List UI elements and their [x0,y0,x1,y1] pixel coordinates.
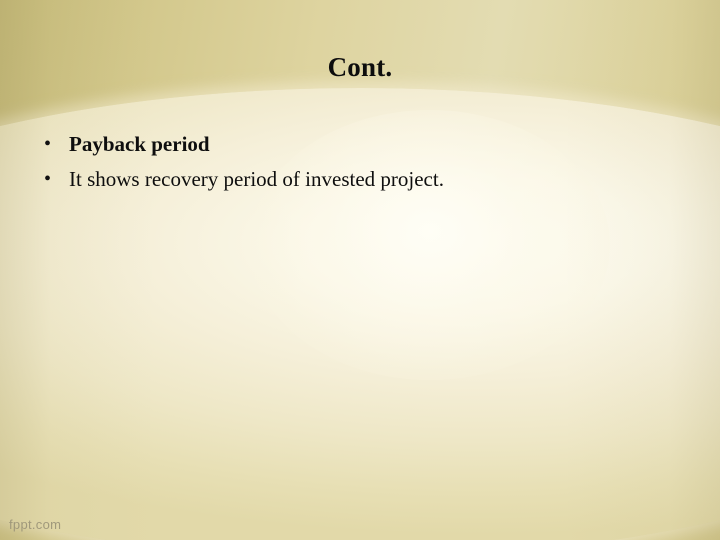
bullet-point-icon: • [38,130,69,158]
bullet-list: • Payback period • It shows recovery per… [38,130,678,200]
bullet-point-icon: • [38,165,69,193]
bullet-text: It shows recovery period of invested pro… [69,165,678,193]
slide-canvas: Cont. • Payback period • It shows recove… [0,0,720,540]
list-item: • Payback period [38,130,678,158]
list-item: • It shows recovery period of invested p… [38,165,678,193]
bullet-text: Payback period [69,130,678,158]
slide-title: Cont. [0,52,720,83]
watermark-label: fppt.com [9,517,61,532]
